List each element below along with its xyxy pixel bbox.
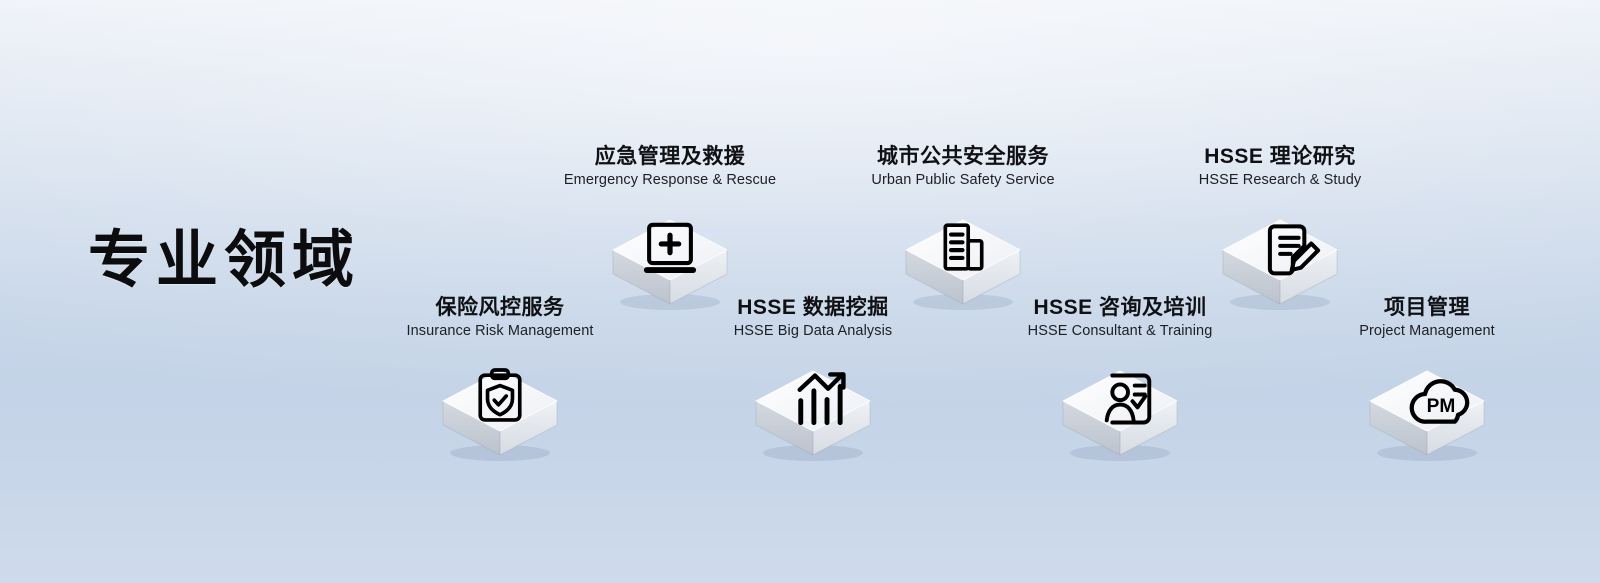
service-item-insurance-risk-management[interactable]: 保险风控服务Insurance Risk Management: [350, 296, 650, 477]
service-item-title: HSSE 咨询及培训: [970, 296, 1270, 320]
service-item-title: 保险风控服务: [350, 296, 650, 320]
service-item-subtitle: HSSE Research & Study: [1130, 172, 1430, 189]
service-item-title: HSSE 数据挖掘: [663, 296, 963, 320]
bar-chart-trend-arrow-icon[interactable]: [775, 347, 867, 427]
service-item-graphic[interactable]: [970, 347, 1270, 477]
service-item-subtitle: Emergency Response & Rescue: [520, 172, 820, 189]
service-item-title: HSSE 理论研究: [1130, 145, 1430, 169]
service-item-project-management[interactable]: 项目管理Project ManagementPM: [1277, 296, 1577, 477]
city-buildings-icon[interactable]: [917, 196, 1009, 276]
service-item-subtitle: HSSE Consultant & Training: [970, 323, 1270, 340]
service-item-graphic[interactable]: PM: [1277, 347, 1577, 477]
cloud-pm-icon[interactable]: PM: [1395, 347, 1487, 427]
first-aid-document-icon[interactable]: [624, 196, 716, 276]
service-item-subtitle: Urban Public Safety Service: [813, 172, 1113, 189]
person-id-card-check-icon[interactable]: [1082, 347, 1174, 427]
service-item-graphic[interactable]: [663, 347, 963, 477]
infographic-canvas: 专业领域 应急管理及救援Emergency Response & Rescue城…: [0, 0, 1600, 583]
service-item-title: 项目管理: [1277, 296, 1577, 320]
service-item-subtitle: Insurance Risk Management: [350, 323, 650, 340]
svg-text:PM: PM: [1427, 396, 1456, 417]
service-item-subtitle: HSSE Big Data Analysis: [663, 323, 963, 340]
service-item-graphic[interactable]: [350, 347, 650, 477]
service-item-title: 城市公共安全服务: [813, 145, 1113, 169]
service-item-hsse-consultant-training[interactable]: HSSE 咨询及培训HSSE Consultant & Training: [970, 296, 1270, 477]
clipboard-shield-check-icon[interactable]: [454, 347, 546, 427]
service-item-title: 应急管理及救援: [520, 145, 820, 169]
document-pencil-icon[interactable]: [1248, 196, 1340, 276]
page-title: 专业领域: [88, 228, 360, 293]
service-item-subtitle: Project Management: [1277, 323, 1577, 340]
service-item-hsse-big-data-analysis[interactable]: HSSE 数据挖掘HSSE Big Data Analysis: [663, 296, 963, 477]
